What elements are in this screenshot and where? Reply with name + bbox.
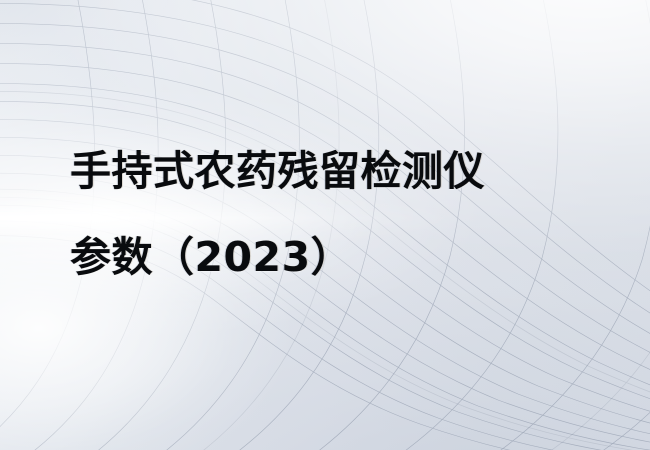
title-block: 手持式农药残留检测仪 参数（2023） <box>70 128 485 300</box>
title-line-1: 手持式农药残留检测仪 <box>70 128 485 214</box>
banner-image: 手持式农药残留检测仪 参数（2023） <box>0 0 650 450</box>
title-line-2: 参数（2023） <box>70 214 485 300</box>
